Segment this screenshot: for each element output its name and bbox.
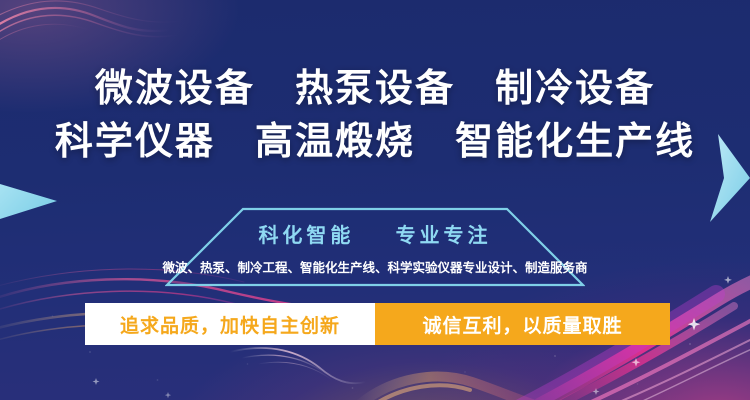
headline-word-6: 智能化生产线	[455, 121, 695, 163]
headline-word-5: 高温煅烧	[255, 121, 415, 163]
promotional-banner: 微波设备 热泵设备 制冷设备 科学仪器 高温煅烧 智能化生产线 科化智能 专业专…	[0, 0, 750, 400]
slogan-right: 专业专注	[396, 225, 492, 247]
panel-slogan: 科化智能 专业专注	[165, 219, 585, 248]
slogan-panel: 科化智能 专业专注 微波、热泵、制冷工程、智能化生产线、科学实验仪器专业设计、制…	[165, 207, 585, 287]
slogan-left: 科化智能	[258, 225, 354, 247]
headline: 微波设备 热泵设备 制冷设备 科学仪器 高温煅烧 智能化生产线	[0, 63, 750, 169]
panel-subtitle: 微波、热泵、制冷工程、智能化生产线、科学实验仪器专业设计、制造服务商	[157, 257, 593, 276]
slogan-bar-right[interactable]: 诚信互利，以质量取胜	[375, 303, 670, 345]
headline-line-2: 科学仪器 高温煅烧 智能化生产线	[0, 116, 750, 169]
headline-line-1: 微波设备 热泵设备 制冷设备	[0, 63, 750, 116]
headline-word-3: 制冷设备	[495, 68, 655, 110]
headline-word-2: 热泵设备	[295, 68, 455, 110]
slogan-bar-left[interactable]: 追求品质，加快自主创新	[85, 303, 375, 345]
slogan-bars: 追求品质，加快自主创新 诚信互利，以质量取胜	[85, 303, 670, 345]
headline-word-1: 微波设备	[95, 68, 255, 110]
headline-word-4: 科学仪器	[55, 121, 215, 163]
